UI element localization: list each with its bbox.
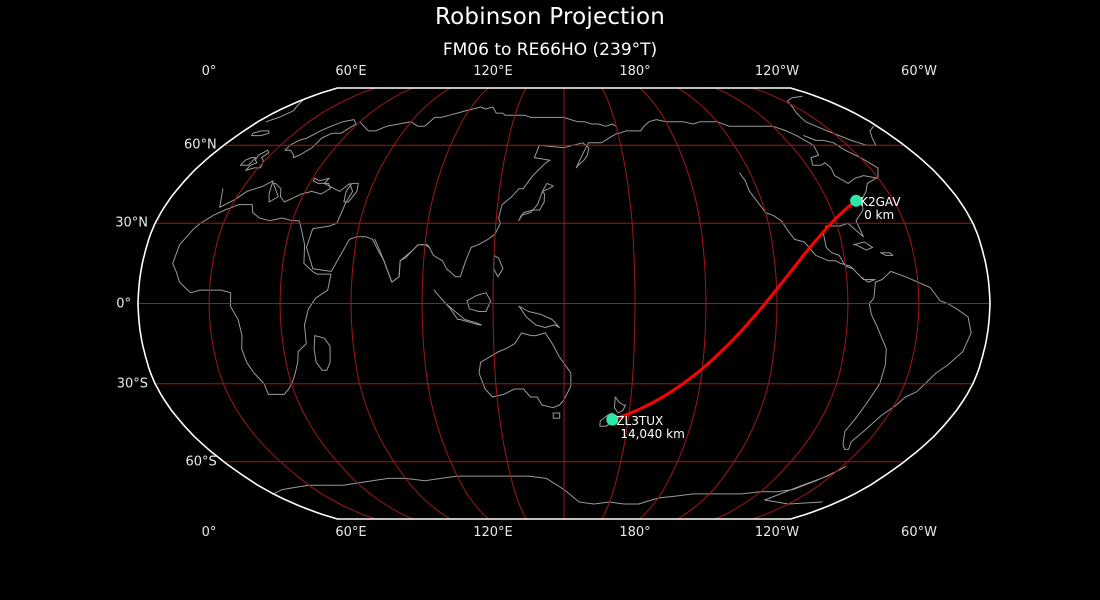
coastline-segment — [870, 126, 876, 145]
station-distance-ZL3TUX: 14,040 km — [620, 427, 684, 441]
coastline-segment — [434, 290, 481, 325]
robinson-map-canvas — [0, 0, 1100, 600]
coastline-segment — [266, 100, 303, 122]
station-callsign-ZL3TUX: ZL3TUX — [616, 414, 663, 428]
lat-label-2: 0° — [116, 296, 131, 311]
coastline-segment — [173, 205, 331, 395]
lon-label-top-3: 120°W — [755, 64, 799, 79]
coastline-segment — [467, 293, 491, 312]
lon-label-bottom-5: 0° — [202, 525, 217, 540]
lat-label-1: 30°N — [115, 216, 148, 231]
lon-label-bottom-0: 60°E — [335, 525, 366, 540]
great-circle-segment — [612, 201, 856, 420]
coastline-segment — [273, 476, 609, 504]
coastline-segment — [614, 397, 625, 413]
station-callsign-K2GAV: K2GAV — [860, 195, 900, 209]
lat-label-4: 60°S — [186, 454, 217, 469]
lat-label-0: 60°N — [184, 138, 217, 153]
station-distance-K2GAV: 0 km — [864, 208, 894, 222]
lat-label-3: 30°S — [117, 376, 148, 391]
coastline-segment — [494, 255, 503, 276]
lon-label-bottom-2: 180° — [619, 525, 650, 540]
lon-label-bottom-1: 120°E — [473, 525, 513, 540]
coastline-segment — [285, 120, 356, 158]
map-figure: Robinson Projection FM06 to RE66HO (239°… — [0, 0, 1100, 600]
great-circle-path — [612, 201, 856, 420]
lon-label-top-2: 180° — [619, 64, 650, 79]
coastline-segment — [519, 306, 559, 327]
coastline-segment — [314, 336, 330, 371]
graticule-layer — [138, 88, 990, 519]
lon-label-top-4: 60°W — [901, 64, 937, 79]
coastline-segment — [740, 173, 876, 282]
lon-label-top-0: 60°E — [335, 64, 366, 79]
coastline-segment — [360, 107, 616, 131]
coastline-segment — [479, 333, 571, 408]
coastline-segment — [375, 239, 430, 282]
coastline-segment — [252, 131, 270, 136]
coastline-segment — [843, 271, 971, 449]
coastlines-layer — [173, 96, 971, 504]
lon-label-bottom-4: 60°W — [901, 525, 937, 540]
coastline-segment — [881, 253, 893, 256]
coastline-segment — [610, 467, 846, 504]
lon-label-top-1: 120°E — [473, 64, 513, 79]
coastline-segment — [854, 242, 873, 250]
lon-label-top-5: 0° — [202, 64, 217, 79]
coastline-segment — [553, 413, 560, 418]
coastline-segment — [220, 120, 878, 283]
lon-label-bottom-3: 120°W — [755, 525, 799, 540]
coastline-segment — [519, 183, 554, 220]
